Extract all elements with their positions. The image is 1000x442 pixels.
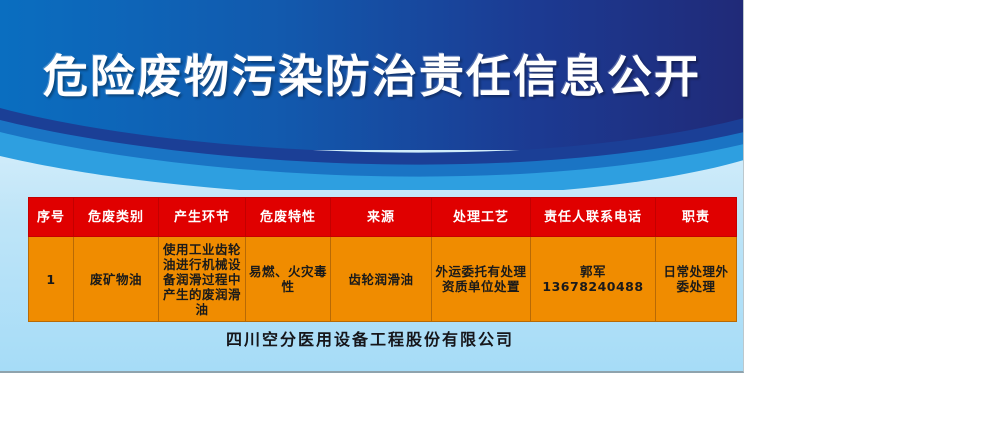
cell-seq: 1 <box>29 237 74 322</box>
column-header-process: 处理工艺 <box>432 198 531 237</box>
hazardous-waste-table-container: 序号 危废类别 产生环节 危废特性 来源 处理工艺 责任人联系电话 职责 1 废… <box>28 197 712 322</box>
company-name: 四川空分医用设备工程股份有限公司 <box>28 326 712 350</box>
column-header-duty: 职责 <box>656 198 737 237</box>
table-row: 1 废矿物油 使用工业齿轮油进行机械设备润滑过程中产生的废润滑油 易燃、火灾毒性… <box>29 237 737 322</box>
column-header-source: 来源 <box>331 198 432 237</box>
column-header-phone: 责任人联系电话 <box>531 198 656 237</box>
responsible-person-phone: 13678240488 <box>533 279 653 294</box>
poster-banner: 危险废物污染防治责任信息公开 <box>0 0 744 190</box>
hazardous-waste-table: 序号 危废类别 产生环节 危废特性 来源 处理工艺 责任人联系电话 职责 1 废… <box>28 197 737 322</box>
cell-process: 外运委托有处理资质单位处置 <box>432 237 531 322</box>
cell-duty: 日常处理外委处理 <box>656 237 737 322</box>
cell-stage: 使用工业齿轮油进行机械设备润滑过程中产生的废润滑油 <box>159 237 246 322</box>
column-header-stage: 产生环节 <box>159 198 246 237</box>
cell-responsible: 郭军 13678240488 <box>531 237 656 322</box>
cell-property: 易燃、火灾毒性 <box>246 237 331 322</box>
cell-category: 废矿物油 <box>74 237 159 322</box>
cell-source: 齿轮润滑油 <box>331 237 432 322</box>
page-title: 危险废物污染防治责任信息公开 <box>0 50 744 104</box>
table-header-row: 序号 危废类别 产生环节 危废特性 来源 处理工艺 责任人联系电话 职责 <box>29 198 737 237</box>
column-header-property: 危废特性 <box>246 198 331 237</box>
column-header-category: 危废类别 <box>74 198 159 237</box>
column-header-seq: 序号 <box>29 198 74 237</box>
information-disclosure-poster: 危险废物污染防治责任信息公开 序号 危废类别 产生环节 危废特性 来源 处理工艺… <box>0 0 744 373</box>
responsible-person-name: 郭军 <box>533 264 653 279</box>
